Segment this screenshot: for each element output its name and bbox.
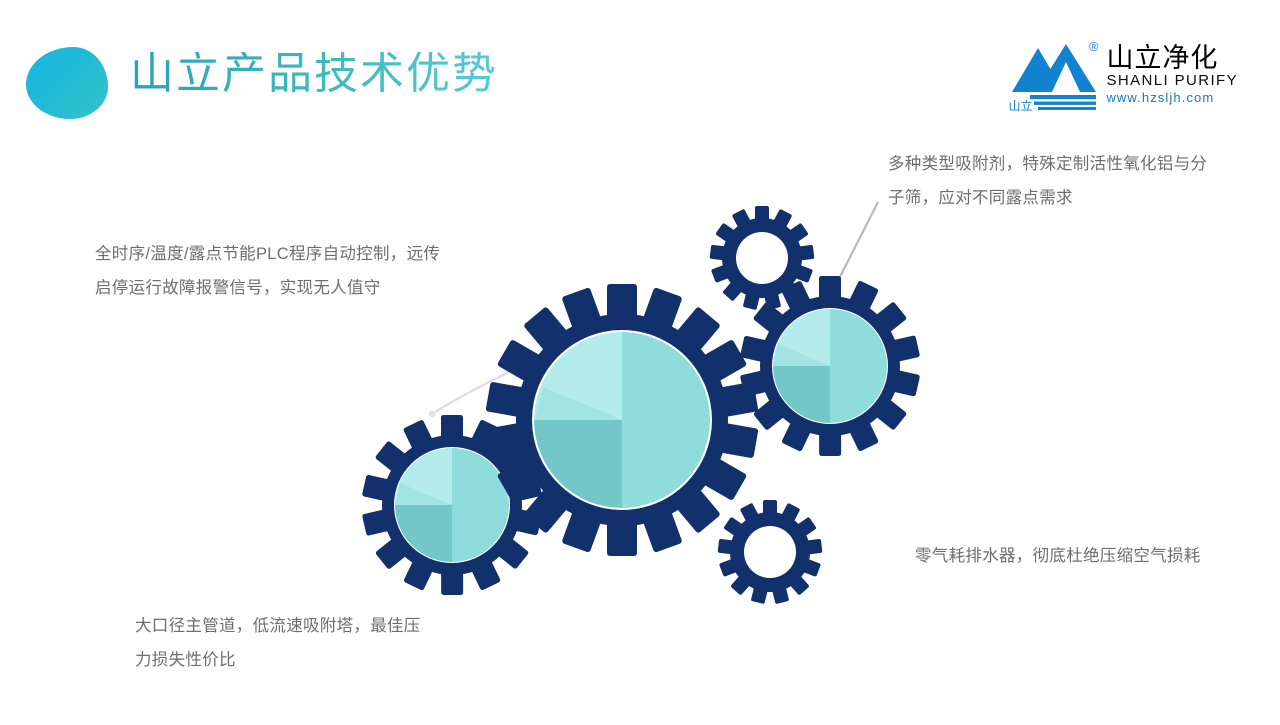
callout-text-adsorbent: 多种类型吸附剂，特殊定制活性氧化铝与分子筛，应对不同露点需求 <box>888 148 1208 216</box>
logo-company-en: SHANLI PURIFY <box>1106 72 1238 89</box>
callout-text-drain: 零气耗排水器，彻底杜绝压缩空气损耗 <box>915 540 1235 574</box>
connector-line-plc <box>432 342 580 414</box>
gear-small-bottom <box>718 500 823 604</box>
gear-medium-left <box>362 415 542 595</box>
gear-small-top <box>710 0 815 310</box>
callout-text-pipe: 大口径主管道，低流速吸附塔，最佳压力损失性价比 <box>135 610 435 678</box>
shanli-mountain-icon: ® 山立 <box>1008 40 1100 112</box>
logo-wordmark: 山立净化 SHANLI PURIFY www.hzsljh.com <box>1106 40 1238 105</box>
callout-text-plc: 全时序/温度/露点节能PLC程序自动控制，远传启停运行故障报警信号，实现无人值守 <box>95 238 445 306</box>
gear-medium-right <box>740 276 920 456</box>
gear-large-center <box>485 284 758 556</box>
title-blob-decoration <box>26 47 108 119</box>
brand-logo: ® 山立 山立净化 SHANLI PURIFY www.hzsljh.com <box>1008 40 1238 114</box>
page-title: 山立产品技术优势 <box>130 52 498 96</box>
logo-company-cn: 山立净化 <box>1106 44 1218 72</box>
connector-dot-plc <box>429 411 436 418</box>
logo-mark-label: 山立 <box>1008 100 1032 112</box>
logo-website: www.hzsljh.com <box>1106 90 1214 106</box>
registered-trademark-icon: ® <box>1089 40 1099 53</box>
connector-line-adsorbent <box>812 202 878 332</box>
